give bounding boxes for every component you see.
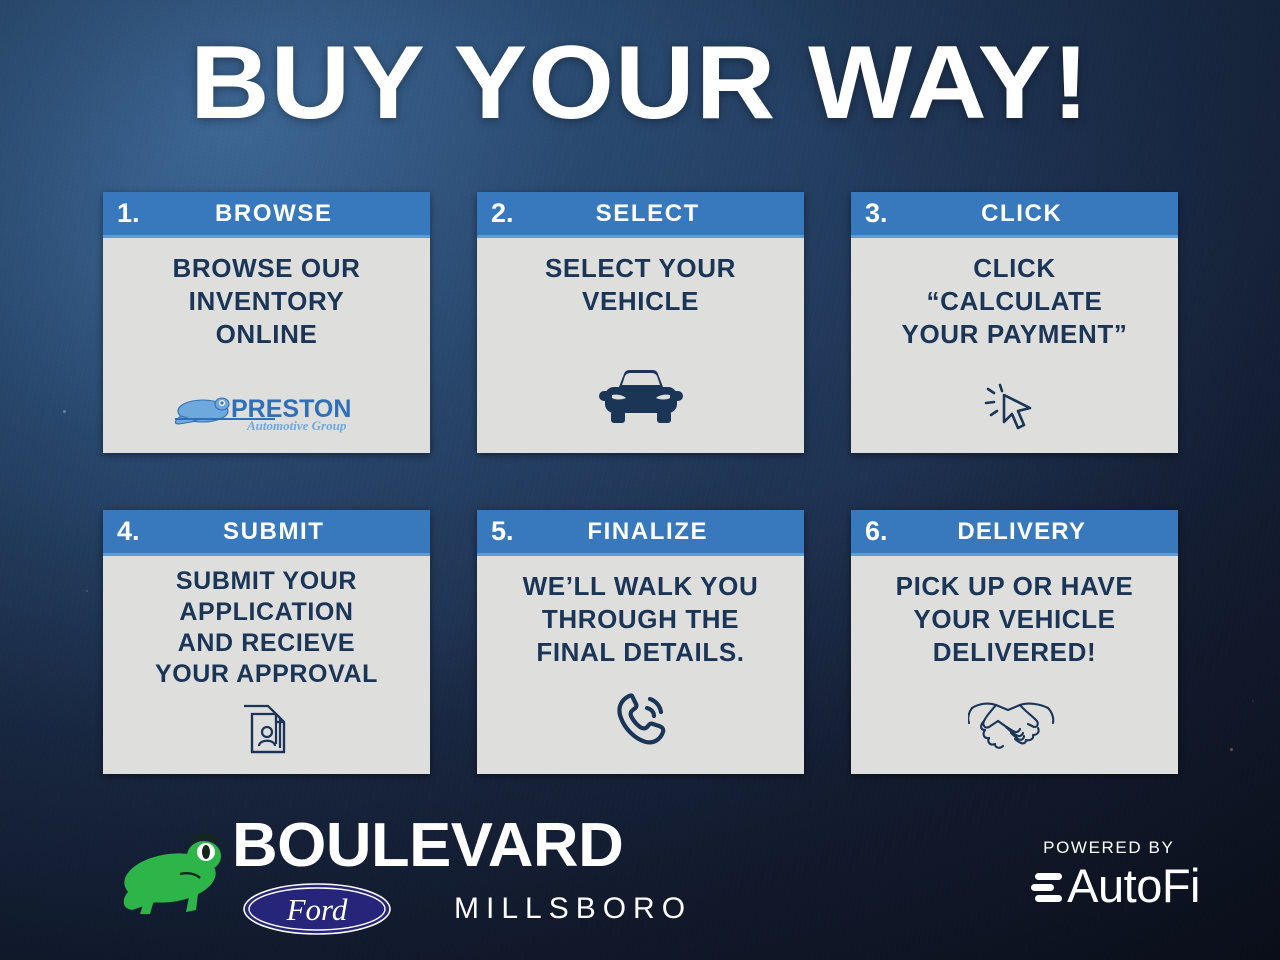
car-front-icon: [489, 365, 792, 443]
step-body: BROWSE OUR INVENTORY ONLINE PRESTON Auto…: [103, 238, 430, 453]
dealer-city: MILLSBORO: [454, 892, 692, 926]
dealer-name: BOULEVARD: [232, 814, 701, 878]
step-body: PICK UP OR HAVE YOUR VEHICLE DELIVERED!: [851, 556, 1178, 774]
boulevard-text-block: BOULEVARD Ford MILLSBORO: [232, 814, 692, 936]
phone-ringing-icon: [489, 688, 792, 764]
step-card-submit[interactable]: 4. SUBMIT SUBMIT YOUR APPLICATION AND RE…: [103, 510, 430, 774]
frog-mascot-icon: [118, 830, 226, 925]
boulevard-ford-logo[interactable]: BOULEVARD Ford MILLSBORO: [118, 814, 692, 936]
mouse-cursor-click-icon: [863, 377, 1166, 443]
step-description: SUBMIT YOUR APPLICATION AND RECIEVE YOUR…: [155, 566, 378, 690]
step-number: 6.: [865, 518, 888, 545]
step-body: CLICK “CALCULATE YOUR PAYMENT”: [851, 238, 1178, 453]
dealer-brand-row: Ford MILLSBORO: [242, 882, 692, 936]
background-speck: [63, 410, 66, 413]
step-description: SELECT YOUR VEHICLE: [545, 252, 736, 318]
step-label: SUBMIT: [140, 518, 416, 546]
footer: BOULEVARD Ford MILLSBORO POWERED BY Auto…: [0, 800, 1280, 960]
step-number: 5.: [491, 518, 514, 545]
page-title: BUY YOUR WAY!: [0, 27, 1280, 139]
background-speck: [1252, 700, 1254, 702]
step-number: 4.: [117, 518, 140, 545]
preston-automotive-group-logo: PRESTON Automotive Group: [167, 390, 367, 443]
step-number: 1.: [117, 200, 140, 227]
powered-by-label: POWERED BY: [1043, 838, 1174, 858]
background-speck: [1230, 748, 1233, 751]
autofi-mark-icon: [1029, 863, 1063, 909]
step-header: 3. CLICK: [851, 192, 1178, 238]
step-description: BROWSE OUR INVENTORY ONLINE: [173, 252, 361, 351]
step-label: FINALIZE: [514, 518, 790, 546]
steps-grid: 1. BROWSE BROWSE OUR INVENTORY ONLINE PR…: [103, 192, 1178, 774]
step-number: 3.: [865, 200, 888, 227]
ford-wordmark: Ford: [286, 892, 348, 927]
autofi-logo[interactable]: POWERED BY AutoFi: [1029, 838, 1200, 912]
step-description: CLICK “CALCULATE YOUR PAYMENT”: [902, 252, 1128, 351]
step-header: 4. SUBMIT: [103, 510, 430, 556]
step-card-browse[interactable]: 1. BROWSE BROWSE OUR INVENTORY ONLINE PR…: [103, 192, 430, 453]
step-header: 5. FINALIZE: [477, 510, 804, 556]
background-speck: [86, 590, 88, 592]
step-card-click[interactable]: 3. CLICK CLICK “CALCULATE YOUR PAYMENT”: [851, 192, 1178, 453]
autofi-row: AutoFi: [1029, 860, 1200, 912]
step-body: WE’LL WALK YOU THROUGH THE FINAL DETAILS…: [477, 556, 804, 774]
ford-logo: Ford: [242, 882, 392, 936]
step-body: SUBMIT YOUR APPLICATION AND RECIEVE YOUR…: [103, 556, 430, 774]
step-label: CLICK: [888, 200, 1164, 228]
step-card-finalize[interactable]: 5. FINALIZE WE’LL WALK YOU THROUGH THE F…: [477, 510, 804, 774]
step-header: 6. DELIVERY: [851, 510, 1178, 556]
step-description: WE’LL WALK YOU THROUGH THE FINAL DETAILS…: [523, 570, 759, 669]
step-label: BROWSE: [140, 200, 416, 228]
step-header: 2. SELECT: [477, 192, 804, 238]
step-label: DELIVERY: [888, 518, 1164, 546]
step-description: PICK UP OR HAVE YOUR VEHICLE DELIVERED!: [896, 570, 1134, 669]
preston-tagline: Automotive Group: [246, 418, 347, 433]
step-label: SELECT: [514, 200, 790, 228]
autofi-wordmark: AutoFi: [1067, 860, 1200, 912]
step-card-select[interactable]: 2. SELECT SELECT YOUR VEHICLE: [477, 192, 804, 453]
step-header: 1. BROWSE: [103, 192, 430, 238]
step-number: 2.: [491, 200, 514, 227]
application-document-icon: [115, 702, 418, 764]
step-body: SELECT YOUR VEHICLE: [477, 238, 804, 453]
handshake-icon: [863, 694, 1166, 764]
step-card-delivery[interactable]: 6. DELIVERY PICK UP OR HAVE YOUR VEHICLE…: [851, 510, 1178, 774]
